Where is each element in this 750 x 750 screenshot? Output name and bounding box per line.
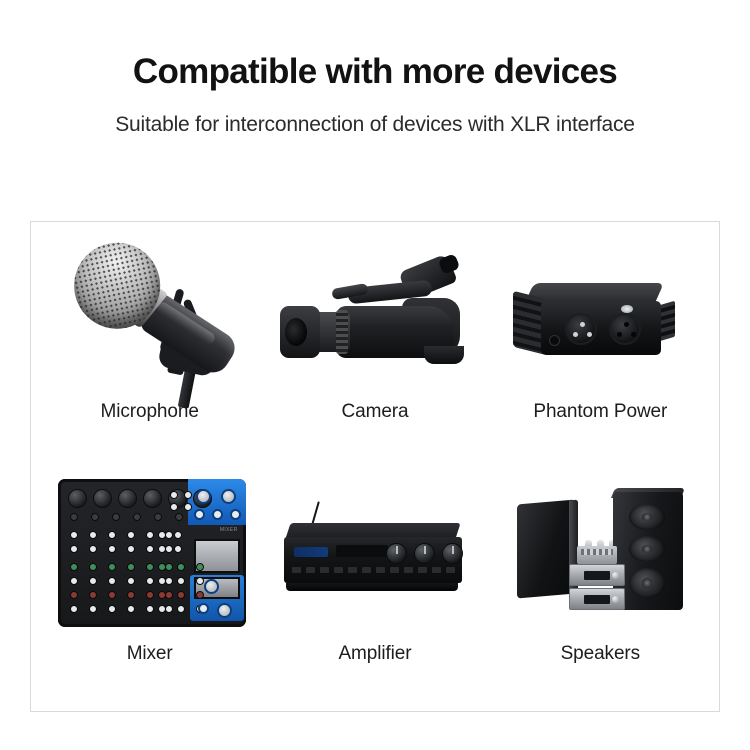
amplifier-knob-3	[442, 543, 463, 564]
device-grid: Microphone	[31, 222, 719, 711]
phantom-power-supply-icon	[505, 269, 695, 379]
stereo-component-lower	[569, 588, 625, 610]
mixer-aux-channel-row-2	[158, 577, 204, 585]
speaker-pair-icon	[507, 480, 697, 630]
amplifier-base	[286, 583, 458, 591]
camera-grip	[424, 346, 464, 364]
amplifier-receiver-icon	[270, 499, 480, 619]
mixer-aux-channel-row-1	[158, 563, 204, 571]
amplifier-display	[294, 547, 328, 557]
mixer-center-knob-row-1	[158, 531, 182, 539]
mic-assembly	[39, 226, 252, 422]
microphone-icon	[56, 226, 256, 401]
mixer-center-knob-row-2	[158, 545, 182, 553]
device-cell-phantom-power: Phantom Power	[488, 230, 713, 466]
mixer-xlr-input-row	[196, 489, 236, 504]
mixer-aux-knob-row-1	[170, 491, 192, 499]
device-cell-speakers: Speakers	[488, 466, 713, 702]
speaker-driver-tweeter	[629, 504, 665, 530]
camera-lens-hood	[280, 306, 320, 358]
mixer-master-jack-row-2	[198, 603, 232, 618]
page-subtitle: Suitable for interconnection of devices …	[0, 113, 750, 137]
xlr-male-connector-icon	[565, 313, 597, 345]
speaker-driver-midrange	[629, 536, 665, 562]
stereo-component-upper	[569, 564, 625, 586]
amplifier-secondary-display	[336, 545, 388, 557]
device-cell-mixer: MIXER	[37, 466, 262, 702]
device-label-mixer: Mixer	[127, 643, 173, 665]
header-block: Compatible with more devices Suitable fo…	[0, 0, 750, 137]
device-label-speakers: Speakers	[561, 643, 640, 665]
mixer-chassis: MIXER	[58, 479, 246, 627]
device-label-amplifier: Amplifier	[338, 643, 411, 665]
phantom-power-image	[488, 230, 713, 405]
device-compatibility-card: Microphone	[30, 221, 720, 712]
camcorder-icon	[274, 250, 484, 390]
speakers-image	[488, 466, 713, 641]
product-feature-page: Compatible with more devices Suitable fo…	[0, 0, 750, 750]
page-title: Compatible with more devices	[0, 52, 750, 91]
phantom-power-front-panel	[541, 301, 661, 355]
phantom-power-rear-fins	[659, 300, 675, 341]
audio-mixer-icon: MIXER	[52, 473, 252, 633]
mixer-input-jack-row	[70, 513, 183, 521]
mixer-brand-text: MIXER	[220, 527, 238, 533]
amplifier-knob-1	[386, 543, 407, 564]
phantom-power-dc-jack	[549, 335, 560, 346]
amplifier-image	[262, 466, 487, 641]
amplifier-knob-2	[414, 543, 435, 564]
device-cell-microphone: Microphone	[37, 230, 262, 466]
camera-focus-ring	[336, 310, 348, 354]
device-cell-camera: Camera	[262, 230, 487, 466]
amplifier-button-row	[292, 567, 455, 573]
camera-image	[262, 230, 487, 405]
mixer-image: MIXER	[37, 466, 262, 641]
phantom-power-led	[621, 305, 633, 313]
xlr-female-connector-icon	[609, 313, 641, 345]
mixer-aux-knob-row-2	[170, 503, 192, 511]
mixer-master-jack-row-1	[204, 579, 219, 594]
microphone-image	[37, 230, 262, 405]
speaker-driver-woofer	[629, 568, 665, 598]
speaker-cabinet-left	[517, 499, 575, 598]
mixer-aux-channel-row-3	[158, 591, 204, 599]
amplifier-front-panel	[284, 537, 462, 583]
stereo-component-top	[577, 546, 617, 564]
device-cell-amplifier: Amplifier	[262, 466, 487, 702]
mixer-blue-jack-row	[194, 509, 241, 520]
